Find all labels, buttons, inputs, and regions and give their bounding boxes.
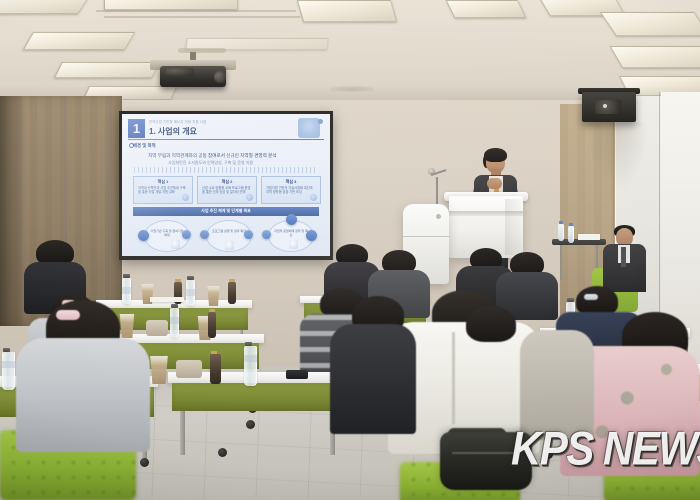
podium-side-shading <box>505 199 524 255</box>
slide-number-badge: 1 <box>128 119 145 138</box>
slide-column-text: 산업 수요 맞춤형 교육 프로그램 운영을 통한 인재 양성 및 일자리 연계 <box>202 186 252 195</box>
slide-flow-icon <box>171 240 180 249</box>
wall-panel-seam <box>110 98 111 326</box>
water-bottle <box>2 352 15 390</box>
slide-column-icon <box>182 194 189 201</box>
slide-logo-graphic <box>298 118 320 138</box>
water-bottle <box>244 346 257 386</box>
ceiling-light-panel <box>446 0 527 18</box>
slide-column-header: 핵심 1 <box>134 179 192 185</box>
slide-column-text: 기업지원 기반의 기술사업화 촉진과 지역 정착형 성장 기반 조성 <box>266 186 316 195</box>
slide-flow-ring-label: 프로그램 실행 및 성과 확산 <box>212 229 246 233</box>
seated-official-tie <box>621 247 626 267</box>
ceiling-groove <box>96 10 296 12</box>
slide-flow-ring-label: 자립적 운영체계 정착 및 확산 <box>274 229 308 237</box>
ceiling-light-panel <box>104 0 238 10</box>
desk-caster <box>218 448 227 457</box>
mobile-phone[interactable] <box>286 370 308 379</box>
water-bottle <box>568 226 574 243</box>
attendee-body <box>330 324 416 434</box>
attendee-body <box>520 330 594 440</box>
slide-column-text: 지역내 산학연과 사업 추진체계 구축을 통한 사업 개발 지원 강화 <box>138 186 188 195</box>
slide-flow-node <box>244 230 253 239</box>
ceiling-light-panel <box>297 0 397 22</box>
beverage-bottle <box>208 312 216 338</box>
desk-caster <box>140 458 149 467</box>
slide-flow-node <box>138 230 149 241</box>
slide-logo-dot <box>318 119 323 124</box>
slide-flow-node <box>262 230 271 239</box>
slide-flow-node <box>200 230 209 239</box>
slide-title-rule <box>128 139 324 140</box>
slide-flow-ring-label: 사업기반 구축 및 참여기관 확대 <box>150 229 184 237</box>
water-bottle <box>558 224 564 241</box>
left-wall-shadow <box>0 96 26 326</box>
slide-flow-icon <box>225 241 234 250</box>
speaker-led <box>603 104 607 108</box>
slide-lead-sub: 사업화된진 소지원도와 인력양성, 구축 및 운영 지원 <box>168 160 253 166</box>
fabric-pouch <box>146 320 168 336</box>
beverage-bottle <box>228 282 236 304</box>
slide-column-header: 핵심 3 <box>262 179 320 185</box>
speaker-wall-shadow <box>588 122 648 192</box>
slide-flow-icon <box>289 240 298 249</box>
handout-paper <box>578 234 600 240</box>
handout-paper <box>150 297 184 302</box>
fabric-pouch <box>176 360 202 378</box>
air-purifier-button[interactable] <box>436 214 441 219</box>
shoulder-bag <box>440 432 532 490</box>
presentation-slide: 1 전력산업 기반형 에너지 전환 지원 사업 1. 사업의 개요 배경 및 목… <box>122 114 330 256</box>
slide-column-icon <box>246 194 253 201</box>
attendee-hair <box>466 306 516 342</box>
ceiling-light-panel <box>23 32 135 50</box>
ceiling-light-panel <box>610 46 700 68</box>
presenter-hair <box>484 148 507 162</box>
desk-caster <box>544 450 553 459</box>
water-bottle <box>170 308 179 338</box>
projection-screen: 1 전력산업 기반형 에너지 전환 지원 사업 1. 사업의 개요 배경 및 목… <box>122 114 330 256</box>
presenter-hands <box>487 178 502 189</box>
slide-kicker: 전력산업 기반형 에너지 전환 지원 사업 <box>149 119 206 124</box>
speaker-grille <box>595 100 621 114</box>
slide-section-heading: 배경 및 목적 <box>133 143 156 149</box>
desk-caster <box>246 420 255 429</box>
ceiling-light-panel <box>54 62 160 78</box>
slide-column-box: 핵심 1 지역내 산학연과 사업 추진체계 구축을 통한 사업 개발 지원 강화 <box>133 176 193 204</box>
side-table-leg <box>560 244 562 280</box>
shirt-seam <box>452 332 455 424</box>
slide-divider-hatch <box>134 167 318 173</box>
beverage-bottle <box>210 354 221 384</box>
ceiling-light-panel <box>600 12 700 36</box>
slide-flow-node <box>182 230 191 239</box>
hair-clip <box>56 310 80 320</box>
slide-column-icon <box>310 194 317 201</box>
slide-column-header: 핵심 2 <box>198 179 256 185</box>
ceiling-groove <box>104 16 300 18</box>
slide-flow-node <box>306 230 317 241</box>
attendee-body <box>16 338 150 452</box>
water-bottle <box>186 280 195 306</box>
ceiling-vent <box>178 48 226 53</box>
seminar-room-photo: 1 전력산업 기반형 에너지 전환 지원 사업 1. 사업의 개요 배경 및 목… <box>0 0 700 500</box>
desk-modesty-panel <box>172 383 342 411</box>
ceiling-light-panel <box>0 0 90 14</box>
slide-column-box: 핵심 2 산업 수요 맞춤형 교육 프로그램 운영을 통한 인재 양성 및 일자… <box>197 176 257 204</box>
water-bottle <box>122 278 131 304</box>
slide-column-box: 핵심 3 기업지원 기반의 기술사업화 촉진과 지역 정착형 성장 기반 조성 <box>261 176 321 204</box>
projector-cable-coil <box>166 68 194 76</box>
projector-lens <box>214 71 226 83</box>
bag-zipper <box>452 452 522 454</box>
desk-leg <box>180 411 185 455</box>
hair-clip <box>584 294 598 300</box>
air-purifier-seam <box>403 236 449 237</box>
slide-title: 1. 사업의 개요 <box>149 126 197 137</box>
slide-flow-node <box>286 214 297 225</box>
slide-lead-line: 지역 부림과 지역관계자의 공동 참여로서 신규인 지역형 경영력 분석 <box>148 153 277 159</box>
